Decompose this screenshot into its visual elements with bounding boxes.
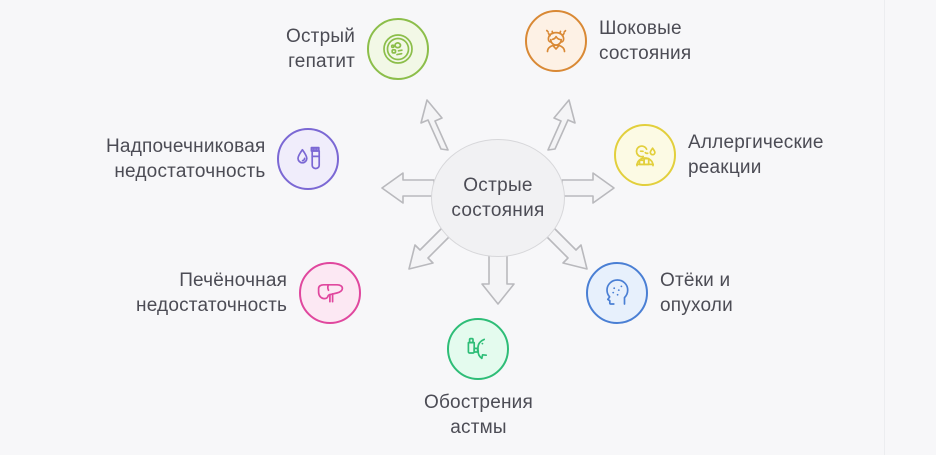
node-label-line1: Аллергические xyxy=(688,130,824,155)
node-label-asthma: Обострения астмы xyxy=(424,390,533,440)
right-edge-rule xyxy=(884,0,885,455)
sneezing-person-tissue-icon xyxy=(614,124,676,186)
node-label-line2: состояния xyxy=(599,41,691,66)
node-label-shock: Шоковые состояния xyxy=(599,16,691,66)
node-label-liver: Печёночная недостаточность xyxy=(136,268,287,318)
node-label-line1: Отёки и xyxy=(660,268,733,293)
node-label-line1: Печёночная xyxy=(136,268,287,293)
node-label-line2: опухоли xyxy=(660,293,733,318)
liver-icon xyxy=(299,262,361,324)
node-label-allergy: Аллергические реакции xyxy=(688,130,824,180)
node-label-line1: Обострения xyxy=(424,390,533,415)
node-label-line2: астмы xyxy=(424,415,533,440)
node-label-line2: гепатит xyxy=(286,49,355,74)
diagram-canvas: Острые состояния Острый гепатит xyxy=(0,0,936,455)
node-label-adrenal: Надпочечниковая недостаточность xyxy=(106,134,265,184)
node-adrenal[interactable]: Надпочечниковая недостаточность xyxy=(106,128,339,190)
node-label-line2: недостаточность xyxy=(106,159,265,184)
node-label-hepatitis: Острый гепатит xyxy=(286,24,355,74)
node-asthma[interactable]: Обострения астмы xyxy=(424,318,533,440)
node-hepatitis[interactable]: Острый гепатит xyxy=(286,18,429,80)
node-shock[interactable]: Шоковые состояния xyxy=(525,10,691,72)
head-profile-swelling-icon xyxy=(586,262,648,324)
inhaler-icon xyxy=(447,318,509,380)
hub-title-line2: состояния xyxy=(451,198,544,223)
node-label-line2: реакции xyxy=(688,155,824,180)
stressed-person-icon xyxy=(525,10,587,72)
node-label-line2: недостаточность xyxy=(136,293,287,318)
node-liver[interactable]: Печёночная недостаточность xyxy=(136,262,361,324)
hub-circle: Острые состояния xyxy=(431,139,565,257)
node-label-line1: Острый xyxy=(286,24,355,49)
node-label-edema: Отёки и опухоли xyxy=(660,268,733,318)
node-edema[interactable]: Отёки и опухоли xyxy=(586,262,733,324)
node-label-line1: Шоковые xyxy=(599,16,691,41)
node-allergy[interactable]: Аллергические реакции xyxy=(614,124,824,186)
node-label-line1: Надпочечниковая xyxy=(106,134,265,159)
petri-dish-cell-icon xyxy=(367,18,429,80)
blood-drop-test-tube-icon xyxy=(277,128,339,190)
hub-title-line1: Острые xyxy=(463,173,533,198)
